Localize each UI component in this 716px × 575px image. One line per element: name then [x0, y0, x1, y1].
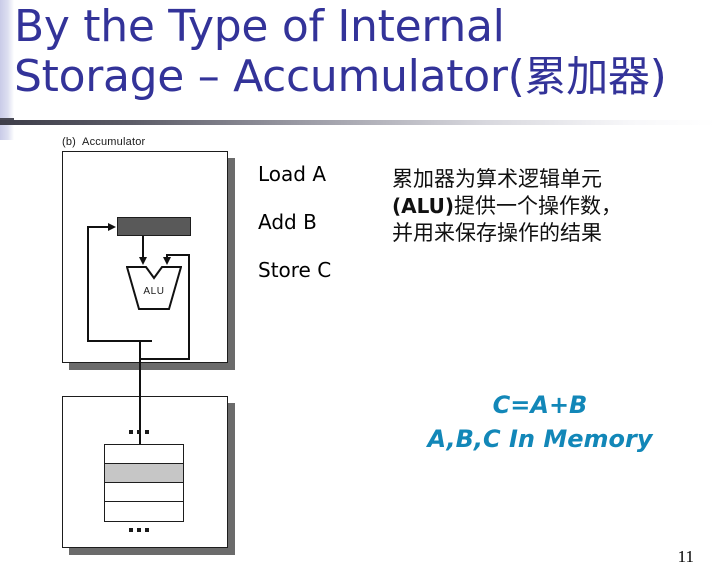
memory-cell-highlighted — [105, 464, 183, 483]
explanation-line-1: 累加器为算术逻辑单元 — [392, 166, 702, 193]
arrow-acc-to-alu — [139, 257, 147, 265]
explanation-alu-token: (ALU) — [392, 194, 454, 218]
page-title-line-2-close: ) — [650, 51, 667, 102]
wire-feedback-vertical — [87, 227, 89, 342]
memory-ellipsis-top — [129, 430, 149, 434]
memory-cell — [105, 502, 183, 521]
page-title-line-1: By the Type of Internal — [14, 2, 716, 52]
alu-label: ALU — [126, 286, 182, 297]
alu-shape: ALU — [126, 266, 182, 310]
formula-block: C=A+B A,B,C In Memory — [380, 388, 700, 456]
page-number: 11 — [678, 547, 694, 567]
memory-cell-stack — [104, 444, 184, 522]
title-divider — [0, 120, 716, 125]
instruction-load-a: Load A — [258, 162, 326, 186]
arrow-bus-to-alu — [163, 257, 171, 265]
page-title-line-2-latin: Storage – Accumulator( — [14, 51, 525, 102]
instruction-add-b: Add B — [258, 210, 317, 234]
slide-canvas: By the Type of Internal Storage – Accumu… — [0, 0, 716, 575]
figure-caption: (b)Accumulator — [62, 136, 145, 148]
figure-caption-text: Accumulator — [82, 136, 145, 148]
page-title: By the Type of Internal Storage – Accumu… — [14, 2, 716, 102]
explanation-line-2: (ALU)提供一个操作数， — [392, 193, 702, 220]
memory-cell — [105, 445, 183, 464]
formula-line-2: A,B,C In Memory — [380, 422, 700, 456]
page-title-line-2: Storage – Accumulator(累加器) — [14, 52, 716, 102]
wire-acc-to-alu — [142, 236, 144, 258]
memory-ellipsis-bottom — [129, 528, 149, 532]
wire-feedback-bottom — [87, 340, 152, 342]
explanation-note: 累加器为算术逻辑单元 (ALU)提供一个操作数， 并用来保存操作的结果 — [392, 166, 702, 247]
instruction-store-c: Store C — [258, 258, 331, 282]
wire-bus-right-bottom — [139, 358, 190, 360]
explanation-line-2-rest: 提供一个操作数， — [454, 194, 622, 218]
page-title-line-2-cjk: 累加器 — [525, 52, 650, 101]
wire-bus-right-top — [166, 254, 190, 256]
wire-bus-right-vertical — [188, 254, 190, 360]
formula-line-1: C=A+B — [380, 388, 700, 422]
accumulator-register — [117, 217, 191, 236]
figure-caption-label: (b) — [62, 136, 76, 148]
memory-cell — [105, 483, 183, 502]
wire-feedback-top — [87, 226, 109, 228]
arrow-into-accumulator — [108, 223, 116, 231]
explanation-line-3: 并用来保存操作的结果 — [392, 220, 702, 247]
